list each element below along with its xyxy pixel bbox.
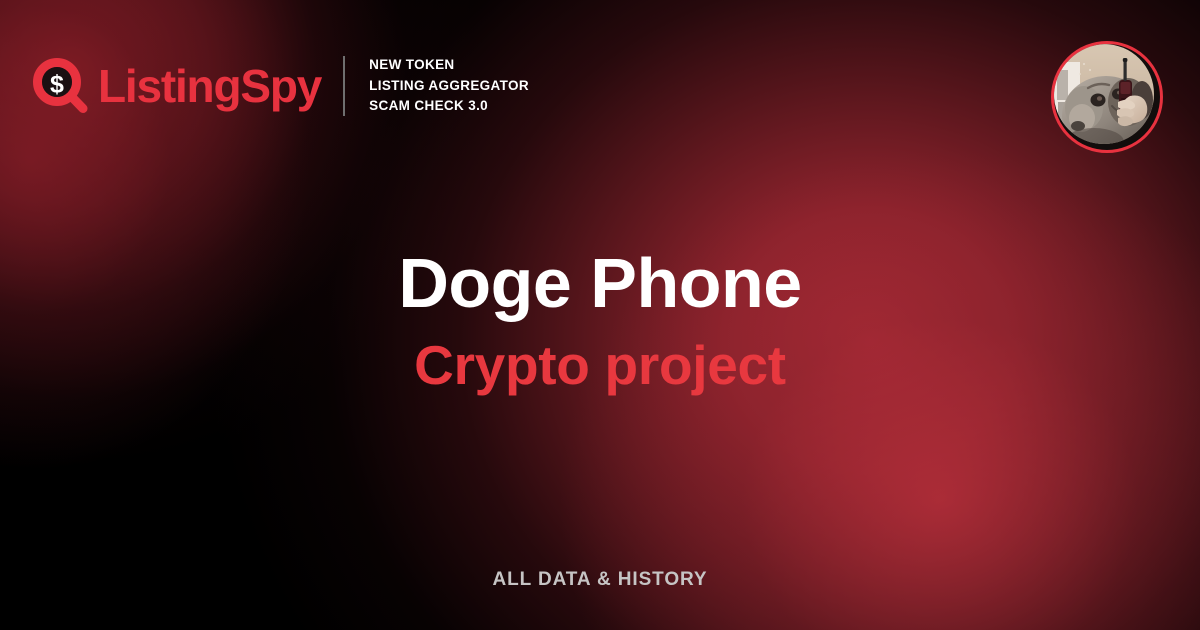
project-avatar[interactable]: [1051, 41, 1163, 153]
page-subtitle: Crypto project: [0, 338, 1200, 393]
brand-lockup[interactable]: $ ListingSpy NEW TOKEN LISTING AGGREGATO…: [33, 55, 529, 117]
brand-tagline: NEW TOKEN LISTING AGGREGATOR SCAM CHECK …: [369, 55, 529, 117]
header: $ ListingSpy NEW TOKEN LISTING AGGREGATO…: [0, 0, 1200, 175]
tagline-line-2: LISTING AGGREGATOR: [369, 76, 529, 97]
hero-block: Doge Phone Crypto project: [0, 248, 1200, 393]
tagline-line-3: SCAM CHECK 3.0: [369, 96, 529, 117]
magnifier-dollar-icon: $: [33, 58, 91, 116]
brand-divider: [343, 56, 345, 116]
share-card: $ ListingSpy NEW TOKEN LISTING AGGREGATO…: [0, 0, 1200, 630]
footer-caption: ALL DATA & HISTORY: [0, 569, 1200, 591]
page-title: Doge Phone: [0, 248, 1200, 318]
brand-name: ListingSpy: [98, 63, 321, 109]
svg-text:$: $: [50, 70, 64, 98]
dog-with-phone-avatar: [1054, 44, 1154, 144]
tagline-line-1: NEW TOKEN: [369, 55, 529, 76]
